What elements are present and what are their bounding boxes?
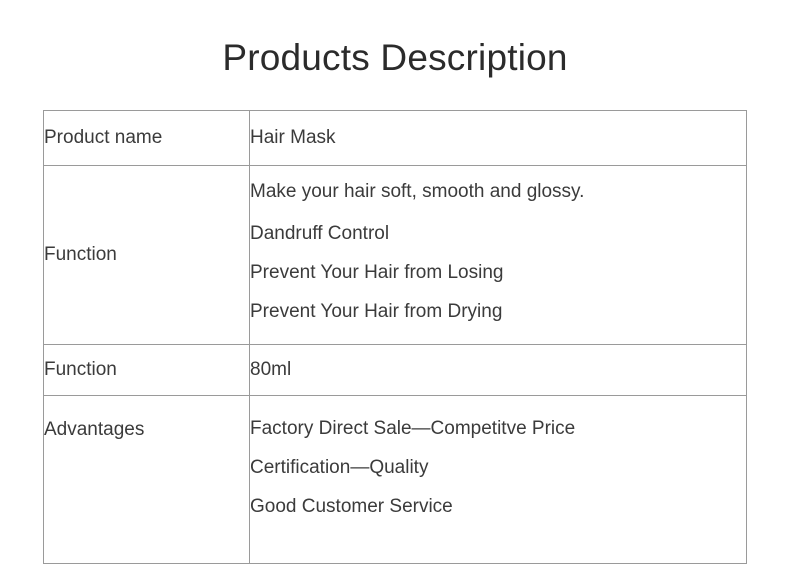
row-value-product-name: Hair Mask — [250, 111, 747, 166]
table-row: Product name Hair Mask — [44, 111, 747, 166]
list-item: Certification—Quality — [250, 458, 746, 477]
product-description-page: Products Description Product name Hair M… — [0, 0, 790, 570]
table-row: Function 80ml — [44, 345, 747, 396]
list-item: Dandruff Control — [250, 224, 746, 243]
row-value-function: Make your hair soft, smooth and glossy. … — [250, 166, 747, 345]
list-item: Prevent Your Hair from Drying — [250, 302, 746, 321]
table-row: Function Make your hair soft, smooth and… — [44, 166, 747, 345]
page-title: Products Description — [0, 38, 790, 79]
list-item: Prevent Your Hair from Losing — [250, 263, 746, 282]
row-label-product-name: Product name — [44, 111, 250, 166]
row-value-advantages: Factory Direct Sale—Competitve Price Cer… — [250, 396, 747, 564]
row-label-volume: Function — [44, 345, 250, 396]
list-item: Factory Direct Sale—Competitve Price — [250, 419, 746, 438]
advantages-line-list: Factory Direct Sale—Competitve Price Cer… — [250, 419, 746, 516]
row-label-function: Function — [44, 166, 250, 345]
row-value-volume: 80ml — [250, 345, 747, 396]
product-spec-table: Product name Hair Mask Function Make you… — [43, 110, 747, 564]
row-label-advantages: Advantages — [44, 396, 250, 564]
function-line-list: Make your hair soft, smooth and glossy. … — [250, 182, 746, 321]
list-item: Good Customer Service — [250, 497, 746, 516]
table-row: Advantages Factory Direct Sale—Competitv… — [44, 396, 747, 564]
list-item: Make your hair soft, smooth and glossy. — [250, 182, 746, 201]
